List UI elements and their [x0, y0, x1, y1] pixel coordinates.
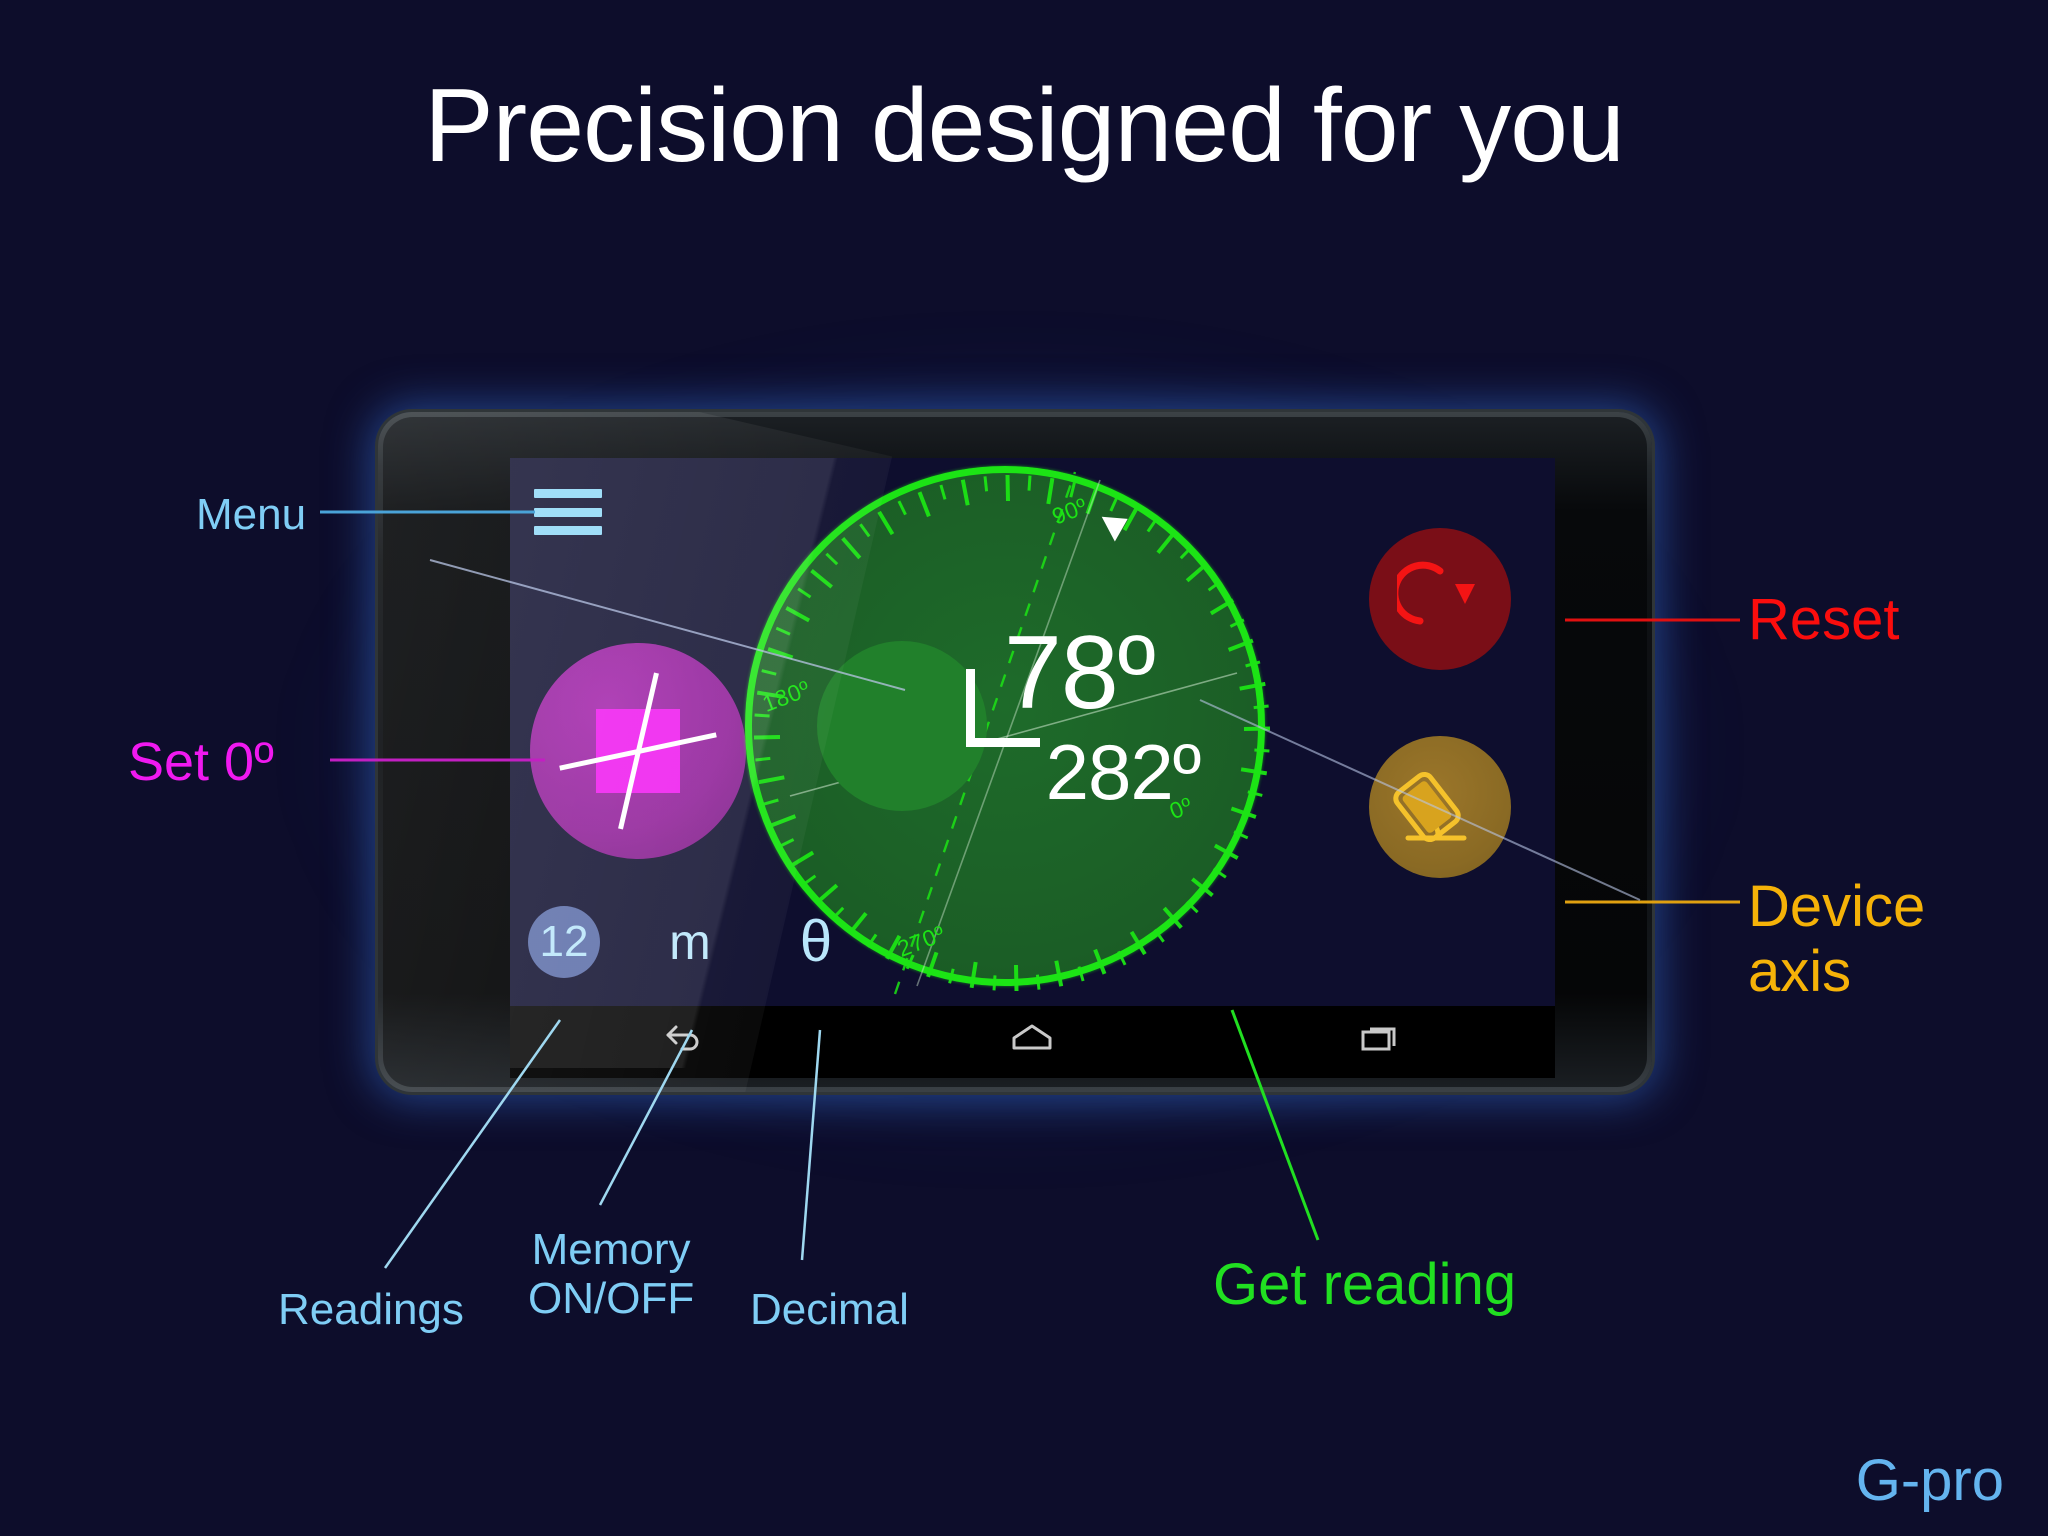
hamburger-menu-icon[interactable]: [534, 483, 602, 541]
annotation-set-zero: Set 0º: [128, 732, 274, 792]
protractor-dial[interactable]: 78º 282º 180º 90º 0º 270º: [745, 466, 1265, 986]
device-axis-button[interactable]: [1369, 736, 1511, 878]
set-zero-button[interactable]: [530, 643, 746, 859]
tilted-device-icon: [1392, 764, 1488, 850]
annotation-device-axis-line1: Device: [1748, 875, 1925, 940]
annotation-readings: Readings: [278, 1285, 464, 1334]
brand-logo: G-pro: [1856, 1447, 2004, 1514]
app-viewport: 12 m θ: [510, 458, 1555, 1006]
circular-arrow-reset-icon: [1397, 556, 1483, 642]
nav-home-button[interactable]: [858, 1022, 1206, 1052]
annotation-reset: Reset: [1748, 588, 1900, 653]
nav-back-button[interactable]: [510, 1021, 858, 1053]
hamburger-bar-1: [534, 489, 602, 498]
page-title: Precision designed for you: [0, 72, 2048, 181]
annotation-device-axis: Device axis: [1748, 875, 1925, 1005]
annotation-memory-line2: ON/OFF: [528, 1274, 694, 1323]
back-arrow-icon: [664, 1021, 704, 1053]
hamburger-bar-2: [534, 508, 602, 517]
poster-canvas: Precision designed for you 12: [0, 0, 2048, 1536]
angle-secondary-value: 282º: [1004, 733, 1254, 811]
angle-primary-value: 78º: [1004, 621, 1254, 725]
recents-icon: [1360, 1021, 1402, 1053]
home-icon: [1010, 1022, 1054, 1052]
annotation-memory: Memory ON/OFF: [528, 1225, 694, 1324]
nav-recents-button[interactable]: [1207, 1021, 1555, 1053]
readings-count-value: 12: [540, 920, 589, 964]
tablet-screen: 12 m θ: [510, 458, 1555, 1068]
annotation-device-axis-line2: axis: [1748, 940, 1925, 1005]
angle-readout: 78º 282º: [1004, 621, 1254, 811]
annotation-decimal: Decimal: [750, 1285, 909, 1334]
hamburger-bar-3: [534, 526, 602, 535]
angle-symbol-vertical: [966, 669, 975, 747]
reset-button[interactable]: [1369, 528, 1511, 670]
annotation-menu: Menu: [196, 490, 306, 539]
annotation-get-reading: Get reading: [1213, 1253, 1516, 1318]
readings-count-button[interactable]: 12: [528, 906, 600, 978]
android-navigation-bar: [510, 1006, 1555, 1068]
dial-center-disc: [817, 641, 987, 811]
annotation-memory-line1: Memory: [528, 1225, 694, 1274]
memory-toggle-button[interactable]: m: [654, 917, 726, 967]
screen-bottom-rim: [510, 1068, 1555, 1078]
